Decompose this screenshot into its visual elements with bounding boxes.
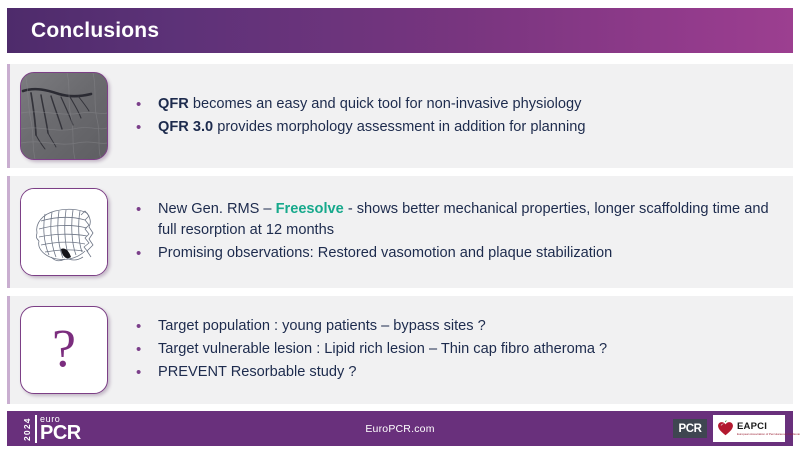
text-run-bold: QFR [158, 96, 189, 112]
bullet-list: • QFR becomes an easy and quick tool for… [108, 92, 793, 140]
bullet-list: • New Gen. RMS – Freesolve - shows bette… [108, 198, 793, 267]
list-item-text: Promising observations: Restored vasomot… [158, 243, 769, 264]
slide: Conclusions [0, 0, 800, 450]
bullet-marker: • [136, 117, 158, 139]
slide-footer: 2024 euro PCR EuroPCR.com PCR EAPCI Euro… [7, 411, 793, 446]
bullet-marker: • [136, 316, 158, 338]
bullet-marker: • [136, 362, 158, 384]
question-mark-icon: ? [21, 307, 107, 393]
list-item-text: QFR 3.0 provides morphology assessment i… [158, 117, 769, 138]
heart-icon [717, 420, 734, 437]
list-item: • QFR 3.0 provides morphology assessment… [136, 117, 769, 139]
conclusion-section-qfr: • QFR becomes an easy and quick tool for… [7, 64, 793, 168]
eapci-name: EAPCI [737, 422, 800, 432]
resorbable-scaffold-illustration [20, 188, 108, 276]
bullet-list: • Target population : young patients – b… [108, 314, 793, 385]
text-run: New Gen. RMS – [158, 201, 276, 217]
list-item-text: QFR becomes an easy and quick tool for n… [158, 94, 769, 115]
text-run: becomes an easy and quick tool for non-i… [189, 96, 582, 112]
question-mark-tile: ? [20, 306, 108, 394]
bullet-marker: • [136, 94, 158, 116]
text-run-highlight: Freesolve [276, 201, 344, 217]
eapci-wordmark: EAPCI European Association of Percutaneo… [737, 422, 800, 436]
list-item-text: PREVENT Resorbable study ? [158, 362, 769, 383]
list-item: • New Gen. RMS – Freesolve - shows bette… [136, 199, 769, 241]
pcr-logo: PCR [673, 419, 707, 438]
list-item: • Target vulnerable lesion : Lipid rich … [136, 339, 769, 361]
list-item: • Promising observations: Restored vasom… [136, 243, 769, 265]
coronary-angiogram-image [20, 72, 108, 160]
bullet-marker: • [136, 339, 158, 361]
conclusion-section-questions: ? • Target population : young patients –… [7, 296, 793, 404]
text-run-bold: QFR 3.0 [158, 119, 213, 135]
bullet-marker: • [136, 243, 158, 265]
text-run: provides morphology assessment in additi… [213, 119, 585, 135]
list-item: • Target population : young patients – b… [136, 316, 769, 338]
conclusion-section-scaffold: • New Gen. RMS – Freesolve - shows bette… [7, 176, 793, 288]
list-item-text: Target vulnerable lesion : Lipid rich le… [158, 339, 769, 360]
bullet-marker: • [136, 199, 158, 221]
eapci-subtitle: European Association of Percutaneous Car… [737, 432, 800, 436]
list-item-text: New Gen. RMS – Freesolve - shows better … [158, 199, 769, 241]
eapci-logo: EAPCI European Association of Percutaneo… [713, 415, 785, 442]
page-title: Conclusions [7, 19, 159, 43]
list-item: • QFR becomes an easy and quick tool for… [136, 94, 769, 116]
list-item: • PREVENT Resorbable study ? [136, 362, 769, 384]
slide-header: Conclusions [7, 8, 793, 53]
list-item-text: Target population : young patients – byp… [158, 316, 769, 337]
